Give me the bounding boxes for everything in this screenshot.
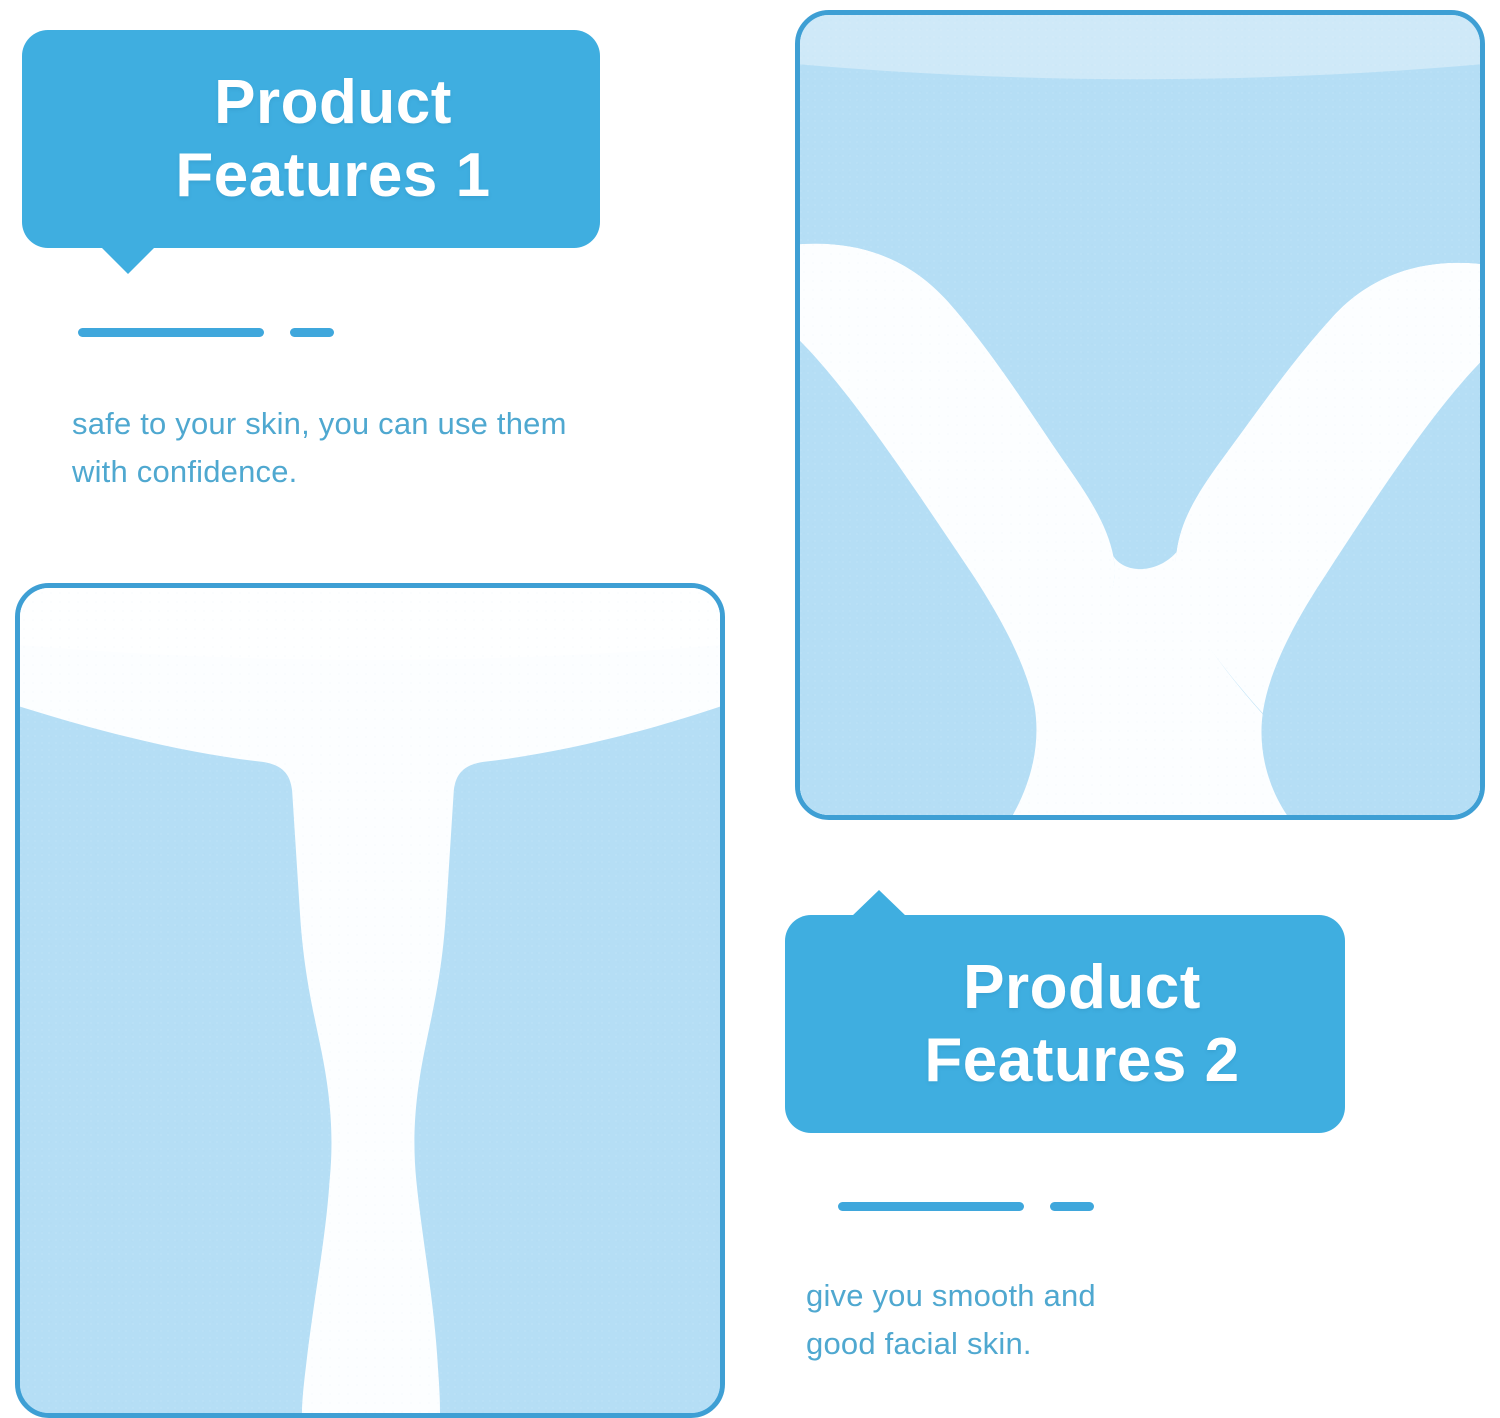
feature-body-text-1: safe to your skin, you can use them with…: [72, 400, 672, 496]
bubble-tail-down-icon: [98, 244, 158, 274]
bubble-tail-up-icon: [851, 890, 907, 917]
dash-short-icon: [1050, 1202, 1094, 1211]
feature-title-1: Product Features 1: [105, 66, 516, 212]
divider-1: [78, 328, 334, 337]
t-shape-strip-illustration: [20, 588, 720, 1413]
feature-callout-bubble-1: Product Features 1: [22, 30, 600, 248]
feature-body-text-2: give you smooth and good facial skin.: [806, 1272, 1366, 1368]
dash-long-icon: [838, 1202, 1024, 1211]
feature-callout-bubble-2: Product Features 2: [785, 915, 1345, 1133]
divider-2: [838, 1202, 1094, 1211]
dash-short-icon: [290, 328, 334, 337]
dash-long-icon: [78, 328, 264, 337]
v-line-chin-strip-photo: [795, 10, 1485, 820]
feature-title-2: Product Features 2: [864, 951, 1265, 1097]
infographic-canvas: Product Features 1 safe to your skin, yo…: [0, 0, 1500, 1410]
t-shape-face-strip-photo: [15, 583, 725, 1418]
v-line-strip-illustration: [800, 15, 1480, 815]
